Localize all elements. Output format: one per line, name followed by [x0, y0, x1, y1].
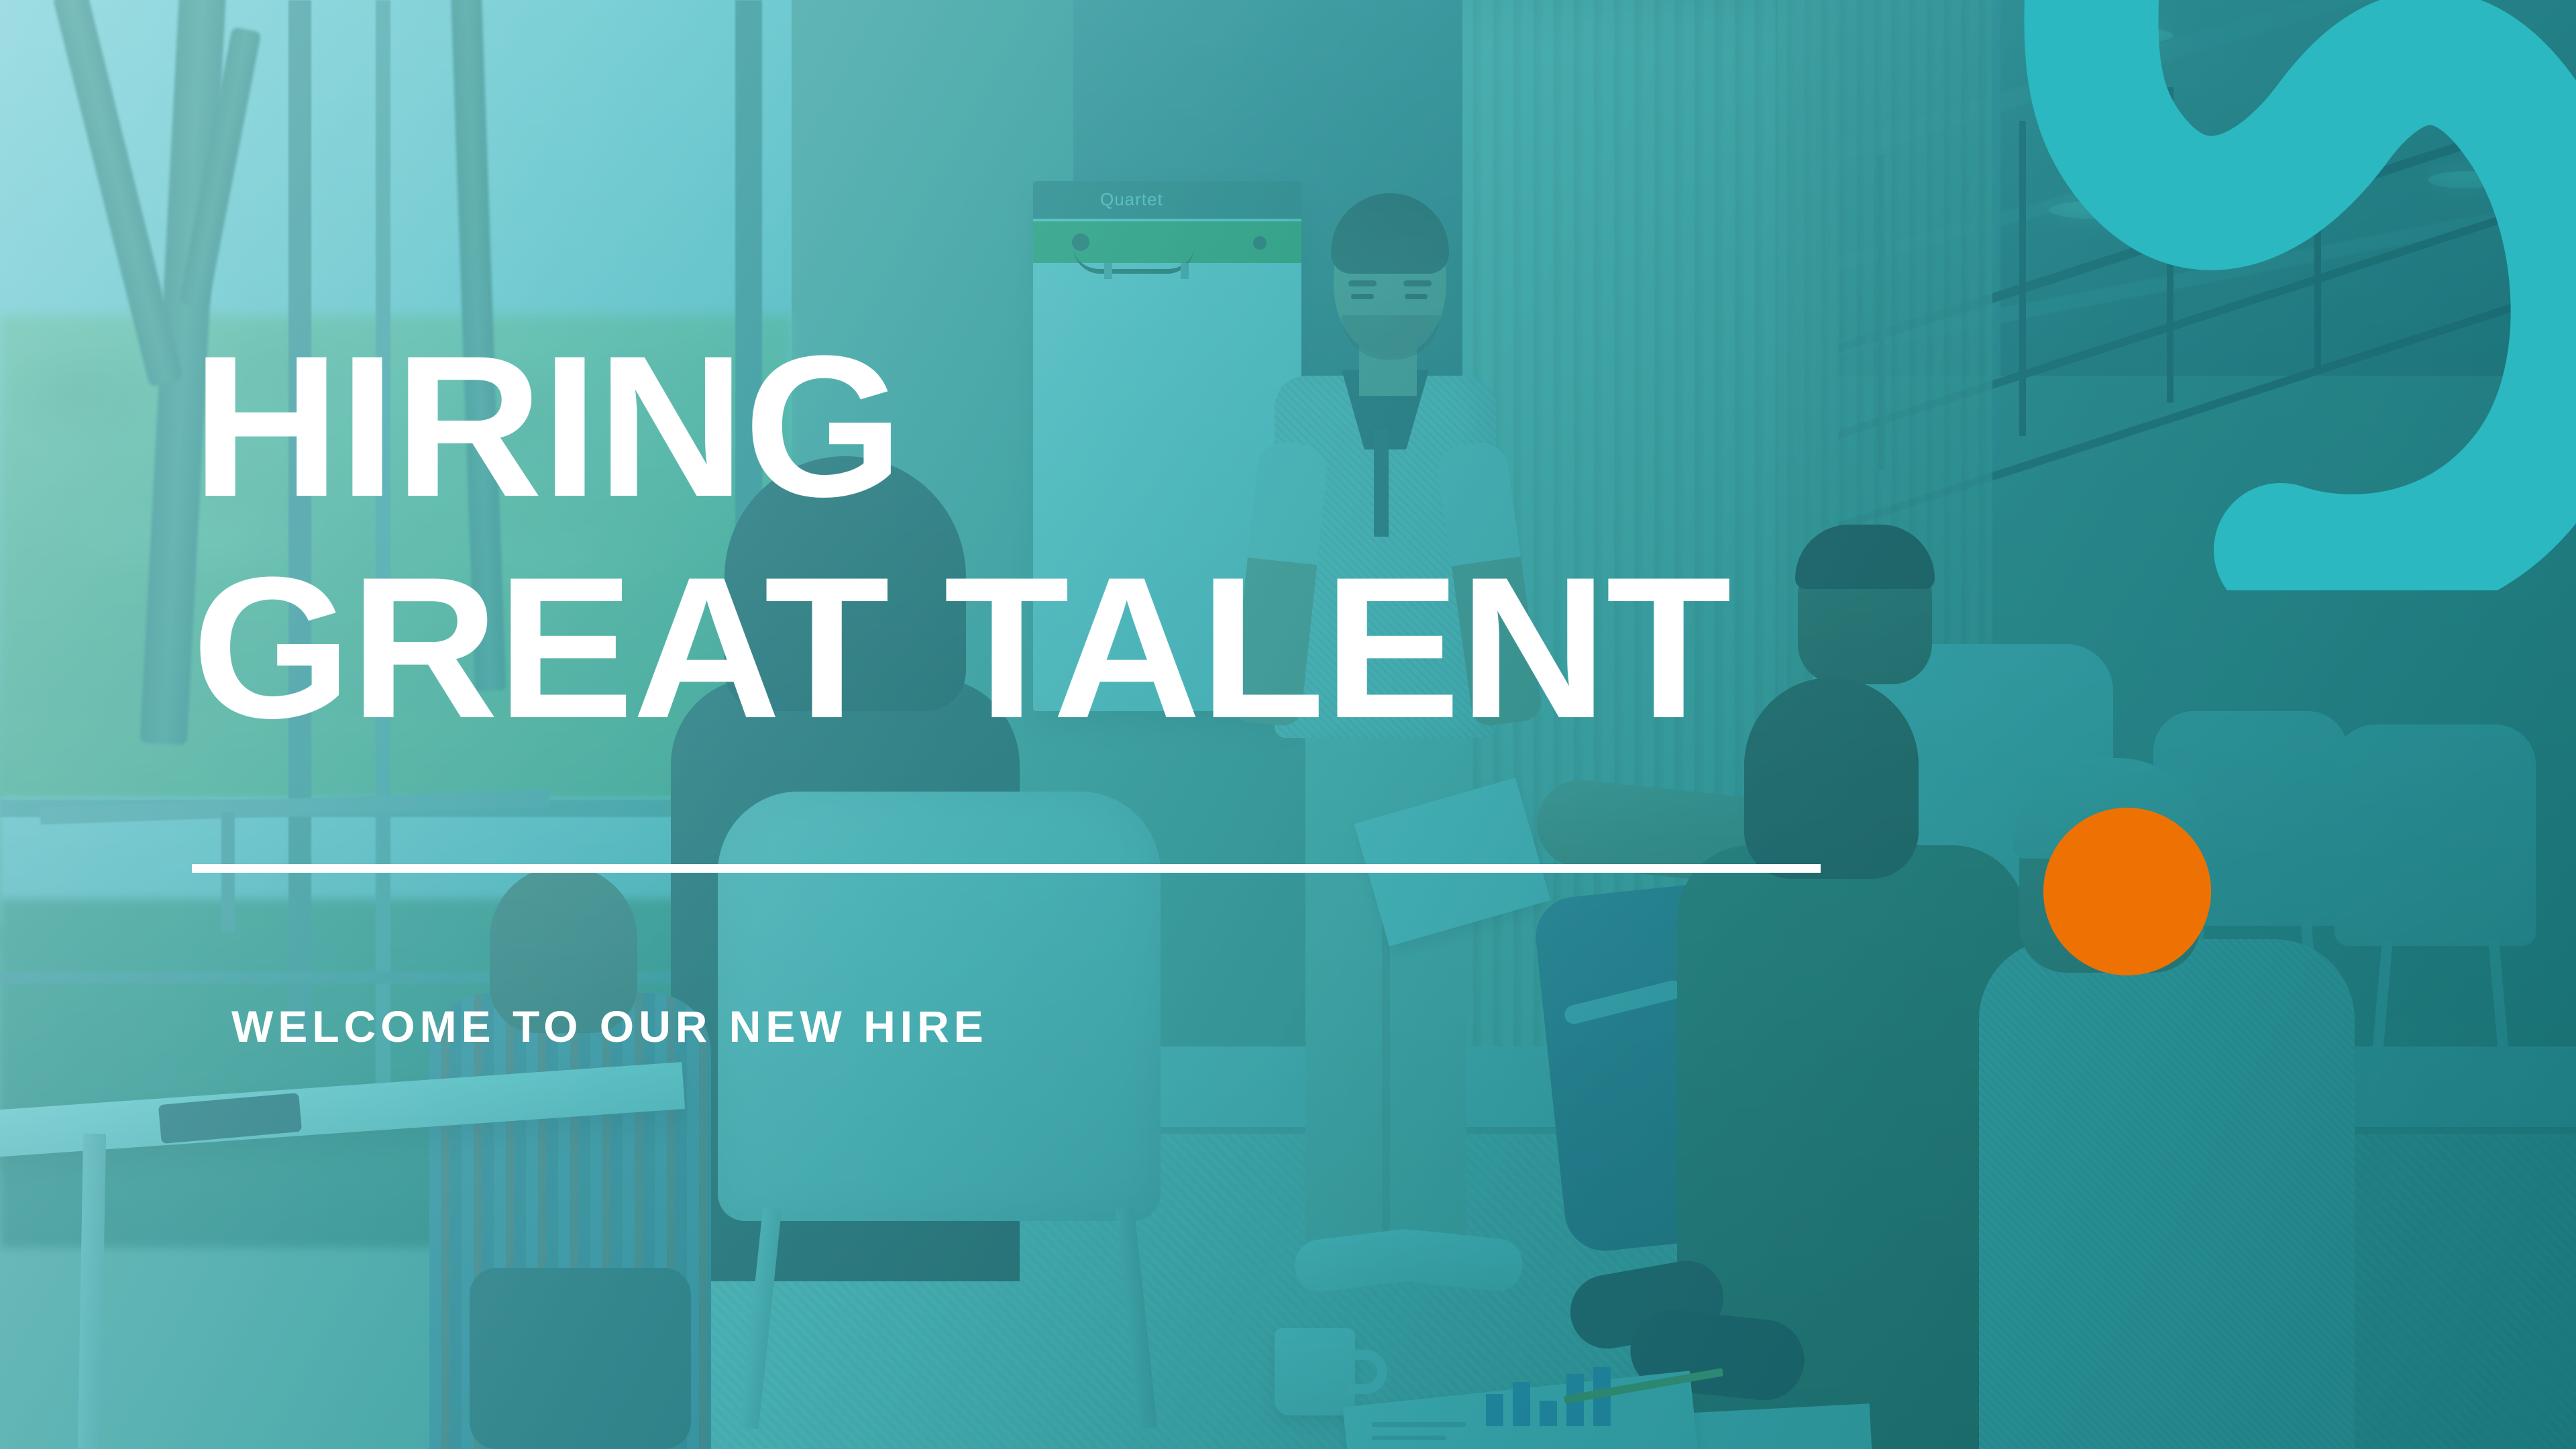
- poster-subtitle: WELCOME TO OUR NEW HIRE: [231, 1001, 988, 1052]
- poster-headline: HIRING GREAT TALENT: [192, 315, 1730, 758]
- yellow-arc-icon: [2106, 1033, 2576, 1449]
- teal-squiggle-icon: [1932, 0, 2576, 590]
- poster-canvas: Quartet: [0, 0, 2576, 1449]
- headline-line-2: GREAT TALENT: [192, 537, 1730, 758]
- orange-circle-icon: [2043, 808, 2211, 975]
- headline-divider-rule: [192, 864, 1821, 873]
- headline-line-1: HIRING: [192, 313, 902, 539]
